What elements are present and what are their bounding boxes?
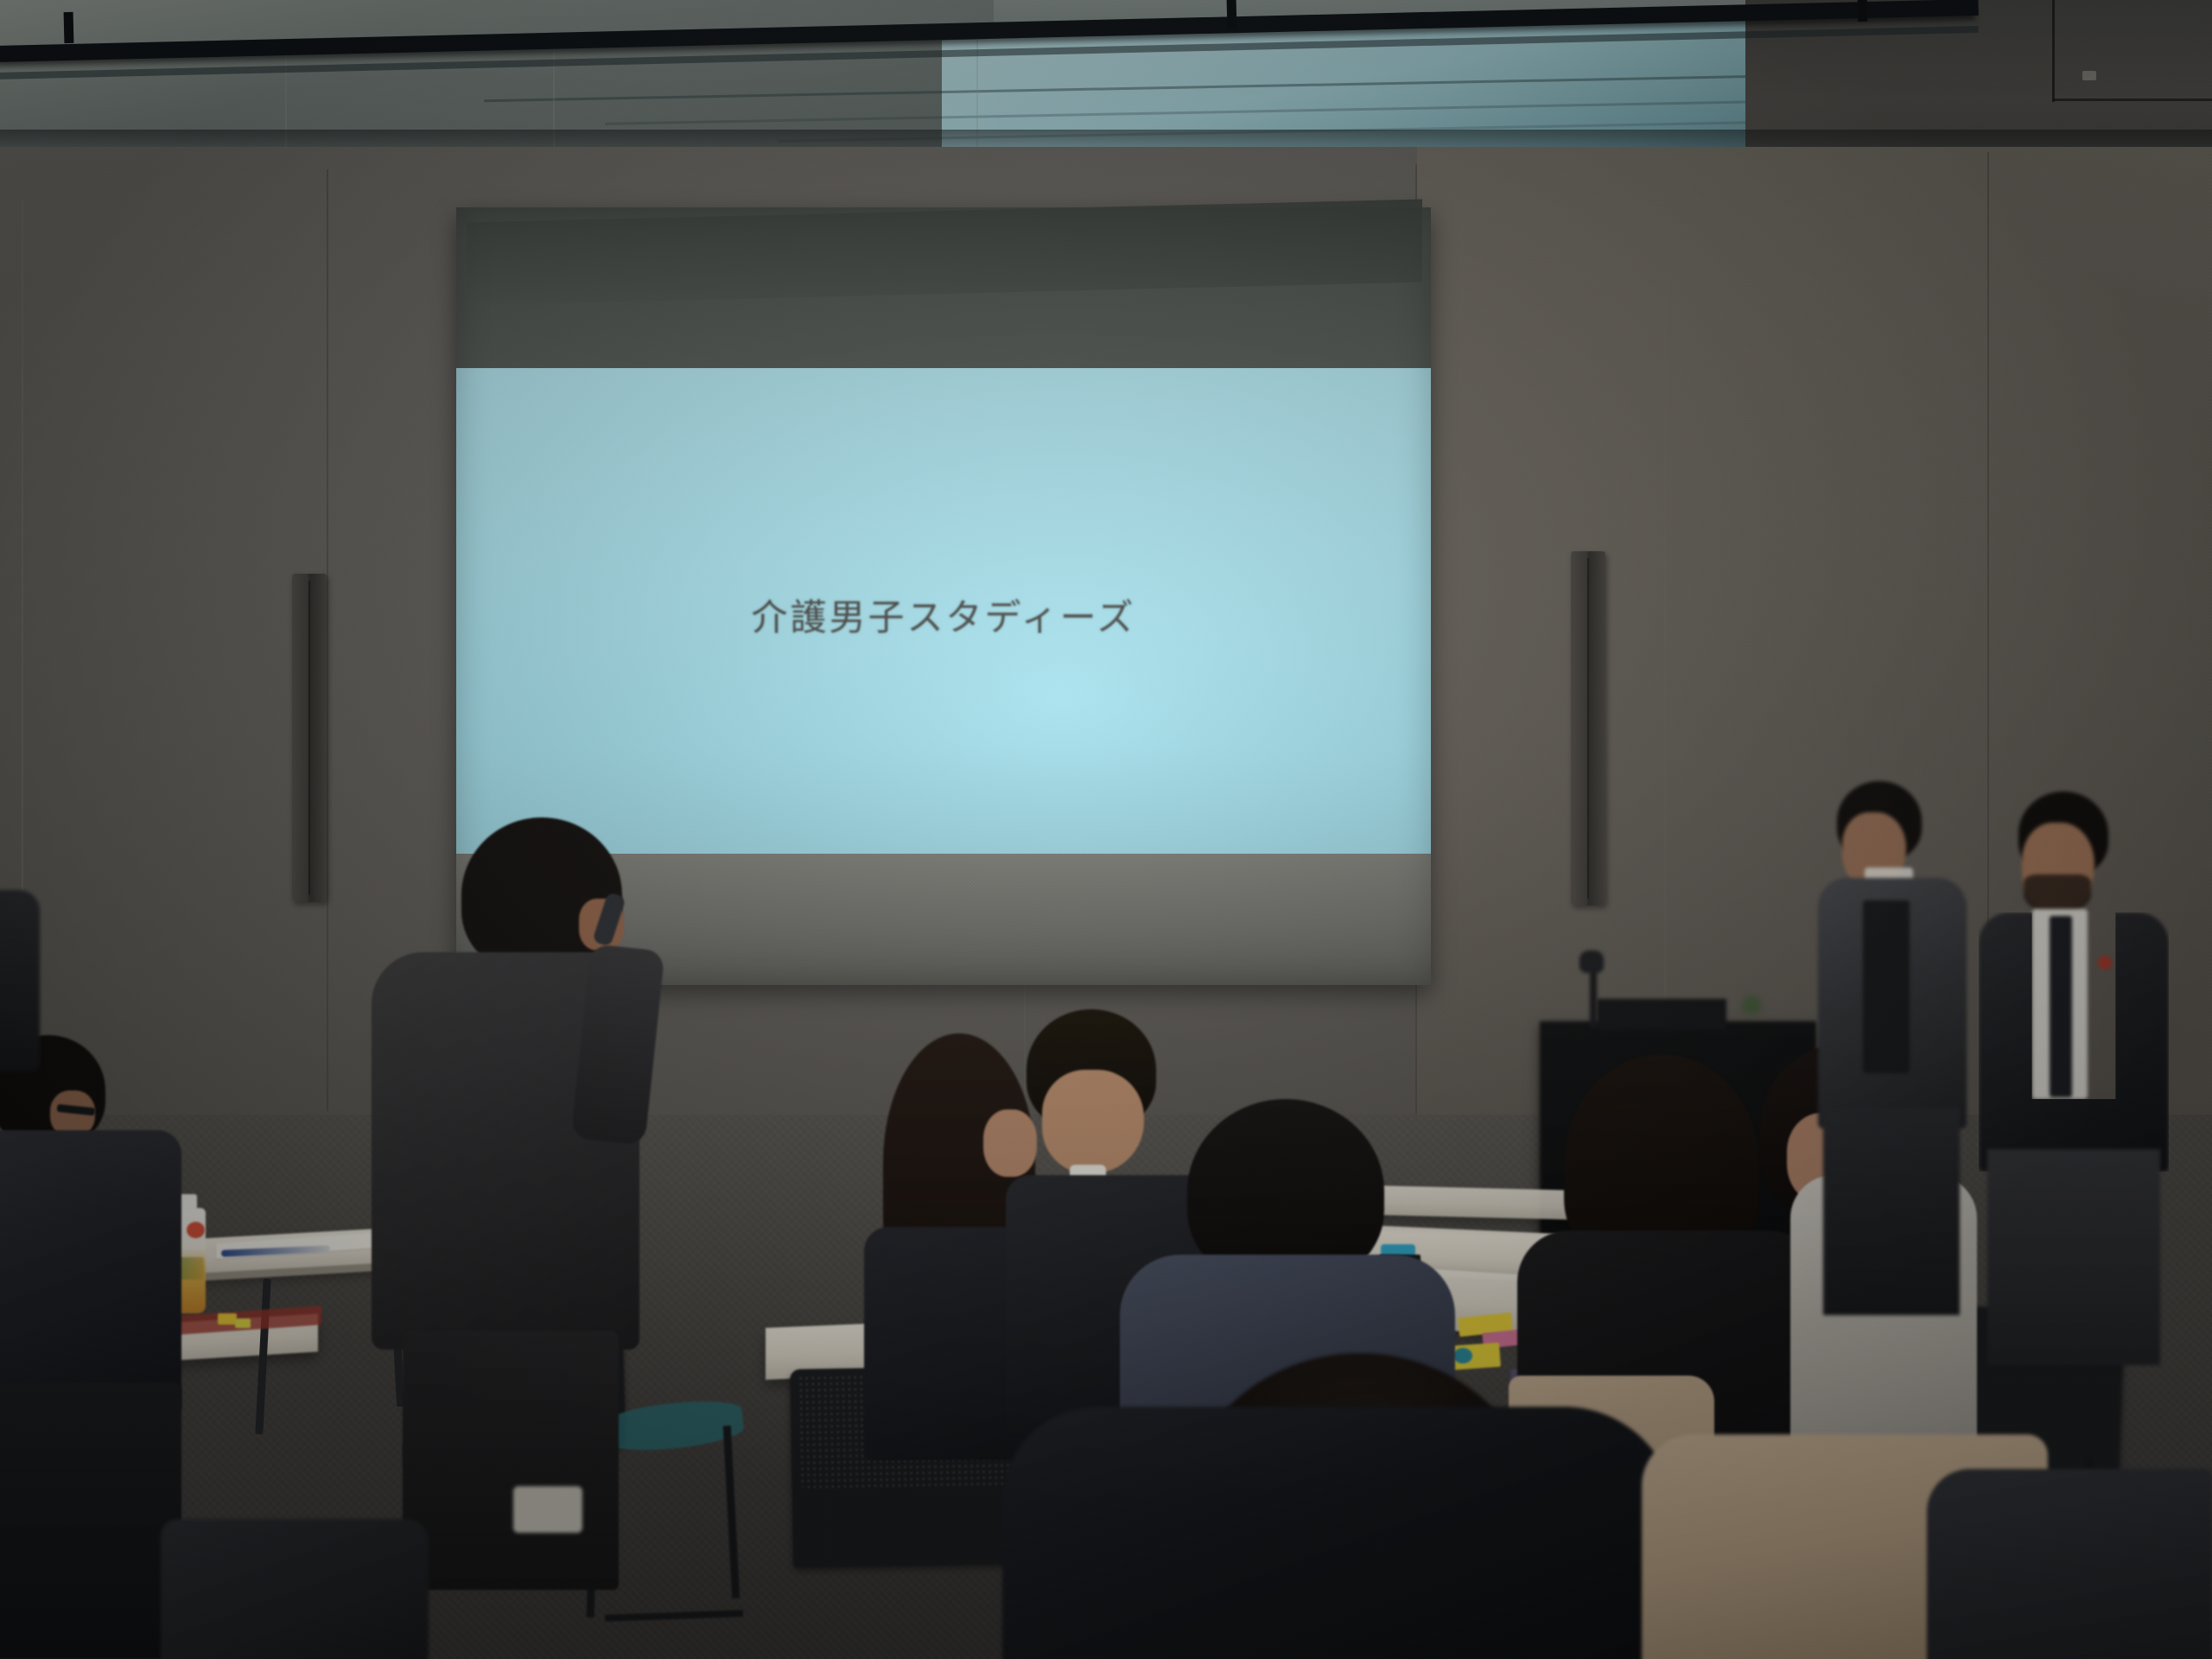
speaker-icon bbox=[292, 574, 327, 902]
person-edge-left bbox=[0, 890, 40, 1071]
microphone-icon bbox=[1590, 968, 1597, 1028]
presentation-room-photo: 介護男子スタディーズ bbox=[0, 0, 2212, 1659]
bag bbox=[161, 1519, 429, 1659]
lapel-pin bbox=[2098, 956, 2112, 969]
right-wall bbox=[1417, 147, 2212, 1149]
sticky-note bbox=[218, 1313, 237, 1325]
speaker-icon bbox=[1571, 551, 1605, 906]
